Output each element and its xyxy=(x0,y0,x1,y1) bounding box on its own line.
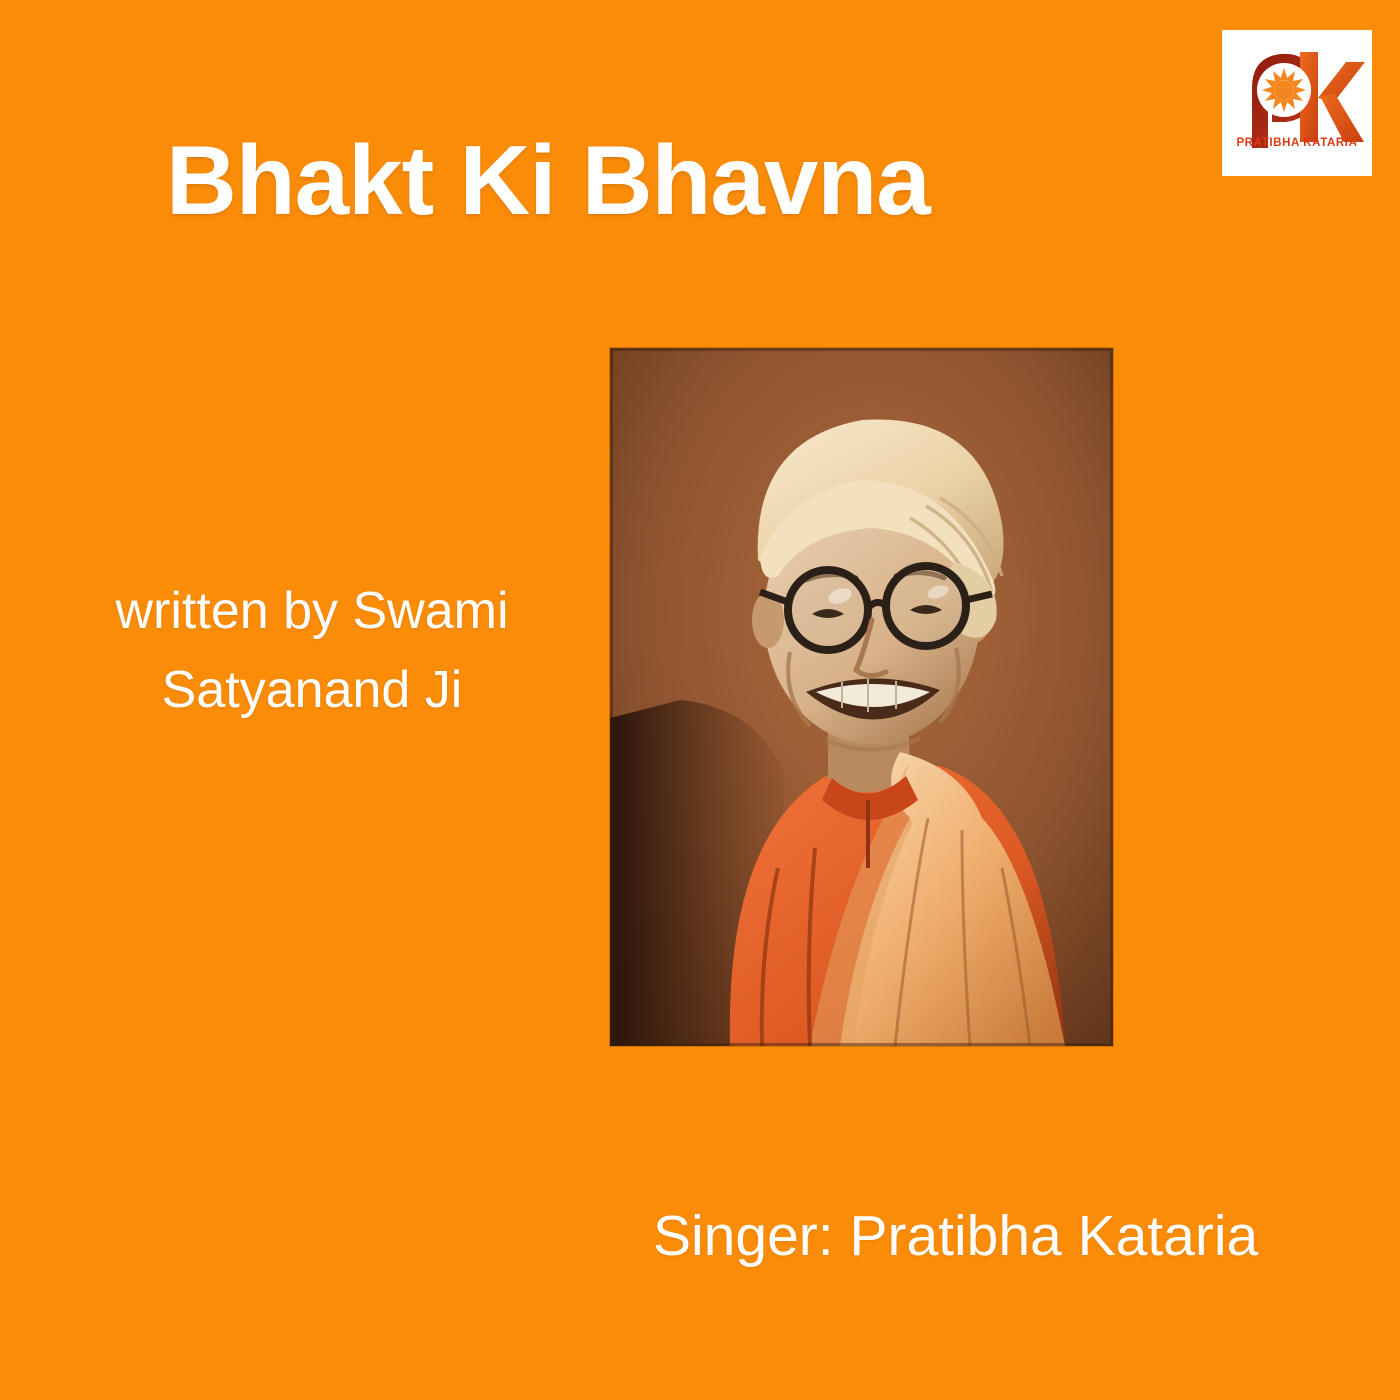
singer-credit: Singer: Pratibha Kataria xyxy=(653,1203,1258,1269)
poster-canvas: PRATIBHA KATARIA Bhakt Ki Bhavna written… xyxy=(0,0,1400,1400)
brand-logo-badge: PRATIBHA KATARIA xyxy=(1222,30,1372,176)
credit-line-1: written by Swami xyxy=(52,572,572,651)
logo-wordmark: PRATIBHA KATARIA xyxy=(1222,137,1372,149)
credit-line-2: Satyanand Ji xyxy=(52,651,572,730)
portrait-photo xyxy=(610,348,1113,1046)
portrait-illustration xyxy=(610,348,1113,1046)
sun-disc-icon xyxy=(1274,80,1294,100)
logo-artwork xyxy=(1222,30,1372,176)
page-title: Bhakt Ki Bhavna xyxy=(166,131,930,229)
pk-monogram-icon xyxy=(1222,30,1372,176)
credit-block: written by Swami Satyanand Ji xyxy=(52,572,572,730)
